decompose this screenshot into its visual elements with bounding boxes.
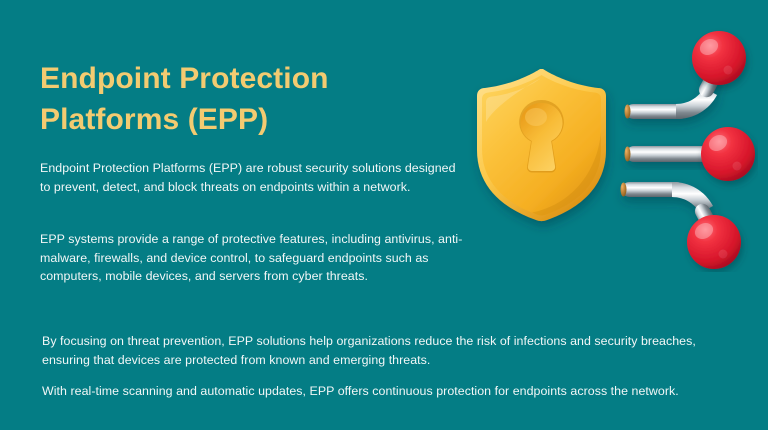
page-title-line-1: Endpoint Protection [40, 58, 470, 99]
page-title: Endpoint Protection Platforms (EPP) [40, 58, 470, 140]
threat-pin-middle [625, 127, 756, 181]
threat-pin-bottom [621, 182, 742, 269]
threat-pin-top [625, 31, 747, 119]
threat-ball-middle [701, 127, 755, 181]
shield-icon [477, 69, 606, 221]
body-paragraph-1: Endpoint Protection Platforms (EPP) are … [40, 159, 465, 196]
threat-ball-top [692, 31, 746, 85]
shield-blocking-threats-illustration [466, 22, 758, 272]
threat-ball-bottom [687, 215, 741, 269]
page-title-line-2: Platforms (EPP) [40, 99, 470, 140]
body-paragraph-4: With real-time scanning and automatic up… [42, 382, 732, 400]
slide-root: Endpoint Protection Platforms (EPP) Endp… [0, 0, 768, 430]
body-paragraph-3: By focusing on threat prevention, EPP so… [42, 332, 732, 369]
body-paragraph-2: EPP systems provide a range of protectiv… [40, 230, 472, 285]
